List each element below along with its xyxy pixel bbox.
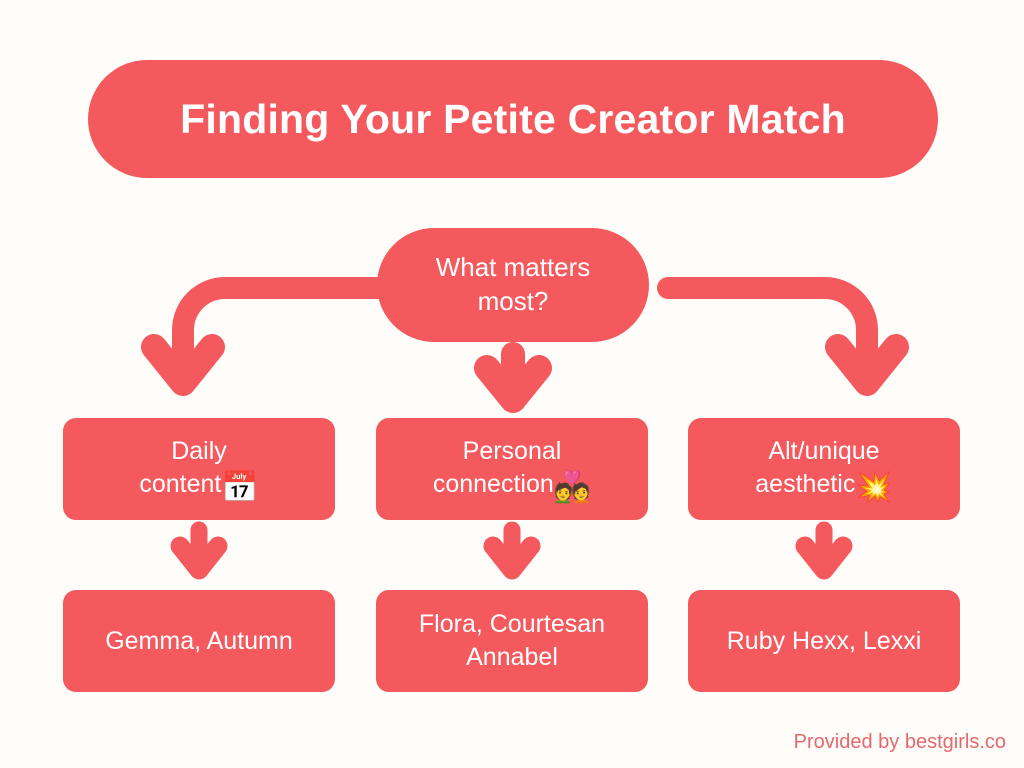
branch-line-1: Personal [463, 437, 562, 465]
connector-alt-unique-to-ruby-hexx [803, 524, 853, 582]
branch-box-personal-connection[interactable]: Personal connection💑 [376, 418, 648, 520]
flowchart-canvas: Finding Your Petite Creator Match What m… [0, 0, 1024, 768]
connector-daily-content-to-gemma-autumn [178, 524, 228, 582]
result-box-gemma-autumn[interactable]: Gemma, Autumn [63, 590, 335, 692]
connector-personal-connection-to-flora [491, 524, 541, 582]
branch-label-personal-connection: Personal connection💑 [433, 435, 591, 503]
result-box-flora-courtesan-annabel[interactable]: Flora, Courtesan Annabel [376, 590, 648, 692]
page-title-banner: Finding Your Petite Creator Match [88, 60, 938, 178]
branch-box-daily-content[interactable]: Daily content📅 [63, 418, 335, 520]
result-label-ruby-hexx-lexxi: Ruby Hexx, Lexxi [727, 625, 922, 658]
result-label-flora-courtesan-annabel: Flora, Courtesan Annabel [390, 608, 634, 674]
decision-node[interactable]: What matters most? [377, 228, 649, 342]
branch-line-1: Daily [171, 437, 227, 465]
branch-label-daily-content: Daily content📅 [139, 435, 258, 503]
footer-attribution: Provided by bestgirls.co [794, 731, 1006, 754]
connector-decision-to-personal-connection [488, 348, 548, 410]
branch-box-alt-unique-aesthetic[interactable]: Alt/unique aesthetic💥 [688, 418, 960, 520]
page-title: Finding Your Petite Creator Match [180, 96, 846, 143]
calendar-icon: 📅 [221, 471, 258, 504]
decision-node-label: What matters most? [377, 251, 649, 319]
branch-label-alt-unique-aesthetic: Alt/unique aesthetic💥 [755, 435, 892, 503]
result-box-ruby-hexx-lexxi[interactable]: Ruby Hexx, Lexxi [688, 590, 960, 692]
branch-line-2: content [139, 470, 221, 498]
branch-line-2: connection [433, 470, 554, 498]
connector-decision-to-alt-unique [660, 275, 880, 400]
connector-decision-to-daily-content [170, 275, 390, 400]
branch-line-1: Alt/unique [768, 437, 879, 465]
couple-with-heart-icon: 💑 [554, 471, 591, 504]
result-label-gemma-autumn: Gemma, Autumn [105, 625, 293, 658]
star-lightning-icon: 💥 [855, 471, 892, 504]
branch-line-2: aesthetic [755, 470, 855, 498]
